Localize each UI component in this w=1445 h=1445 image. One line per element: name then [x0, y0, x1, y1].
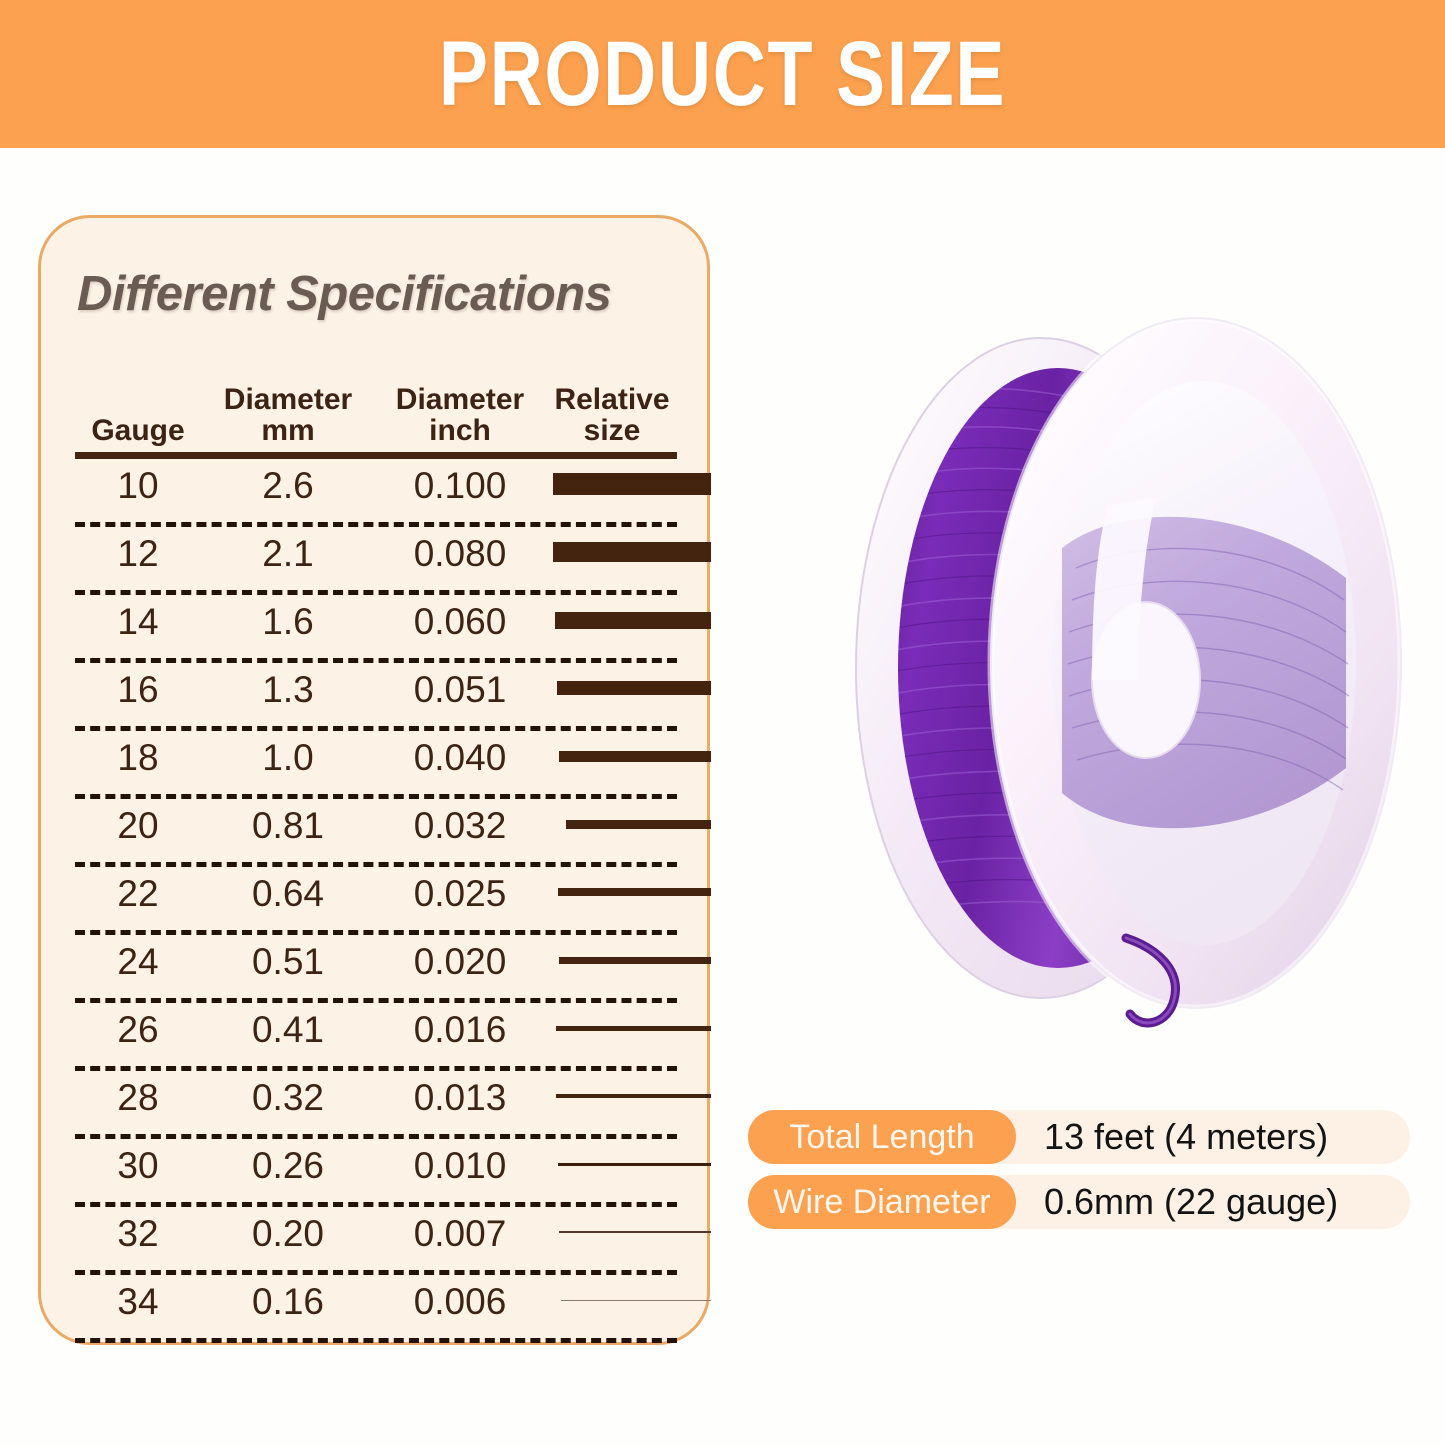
relative-size-bar: [559, 957, 711, 964]
spec-value: 0.6mm (22 gauge): [1044, 1175, 1338, 1229]
row-divider: [75, 1338, 677, 1343]
table-row: 320.200.007: [75, 1207, 677, 1270]
specifications-card: Different Specifications Gauge Diameter …: [38, 215, 710, 1345]
relative-size-bar: [556, 1094, 711, 1098]
product-size-infographic: PRODUCT SIZE Different Specifications Ga…: [0, 0, 1445, 1445]
cell-relative-size: [547, 459, 711, 509]
cell-diameter-inch: 0.006: [377, 1281, 543, 1323]
table-row: 280.320.013: [75, 1071, 677, 1134]
table-row: 240.510.020: [75, 935, 677, 998]
table-row: 220.640.025: [75, 867, 677, 930]
cell-gauge: 24: [75, 941, 201, 983]
table-row: 181.00.040: [75, 731, 677, 794]
card-title: Different Specifications: [77, 266, 611, 322]
spec-label: Total Length: [789, 1118, 974, 1157]
cell-diameter-inch: 0.040: [377, 737, 543, 779]
cell-relative-size: [547, 663, 711, 713]
cell-relative-size: [547, 935, 711, 985]
cell-diameter-inch: 0.032: [377, 805, 543, 847]
relative-size-bar: [553, 473, 711, 495]
table-header-row: Gauge Diameter mm Diameter inch Relative…: [75, 370, 677, 446]
cell-diameter-inch: 0.016: [377, 1009, 543, 1051]
cell-relative-size: [547, 799, 711, 849]
column-header-diameter-mm: Diameter mm: [207, 384, 369, 446]
cell-gauge: 18: [75, 737, 201, 779]
cell-diameter-mm: 0.64: [207, 873, 369, 915]
page-title: PRODUCT SIZE: [439, 22, 1006, 127]
spool-illustration: [826, 248, 1422, 1048]
cell-diameter-mm: 2.1: [207, 533, 369, 575]
table-row: 300.260.010: [75, 1139, 677, 1202]
cell-diameter-mm: 0.41: [207, 1009, 369, 1051]
cell-relative-size: [547, 867, 711, 917]
spec-label-pill: Total Length: [748, 1110, 1016, 1164]
cell-gauge: 22: [75, 873, 201, 915]
relative-size-bar: [561, 1300, 711, 1301]
table-row: 340.160.006: [75, 1275, 677, 1338]
cell-relative-size: [547, 1003, 711, 1053]
spec-row-wire-diameter: Wire Diameter 0.6mm (22 gauge): [748, 1175, 1418, 1229]
spec-value: 13 feet (4 meters): [1044, 1110, 1328, 1164]
column-header-gauge: Gauge: [75, 415, 201, 446]
cell-diameter-inch: 0.080: [377, 533, 543, 575]
table-row: 141.60.060: [75, 595, 677, 658]
cell-diameter-mm: 1.0: [207, 737, 369, 779]
cell-diameter-inch: 0.013: [377, 1077, 543, 1119]
cell-gauge: 14: [75, 601, 201, 643]
cell-diameter-mm: 0.26: [207, 1145, 369, 1187]
relative-size-bar: [558, 1163, 711, 1166]
cell-diameter-mm: 0.16: [207, 1281, 369, 1323]
cell-diameter-inch: 0.060: [377, 601, 543, 643]
header-underline: [75, 452, 677, 459]
cell-gauge: 16: [75, 669, 201, 711]
product-image-wire-spool: [826, 248, 1422, 1048]
column-header-relative-size: Relative size: [547, 384, 677, 446]
cell-diameter-mm: 0.51: [207, 941, 369, 983]
cell-diameter-mm: 0.20: [207, 1213, 369, 1255]
spec-label-pill: Wire Diameter: [748, 1175, 1016, 1229]
cell-gauge: 30: [75, 1145, 201, 1187]
product-spec-list: Total Length 13 feet (4 meters) Wire Dia…: [748, 1110, 1418, 1240]
relative-size-bar: [566, 820, 711, 829]
cell-gauge: 32: [75, 1213, 201, 1255]
cell-diameter-mm: 1.6: [207, 601, 369, 643]
table-row: 161.30.051: [75, 663, 677, 726]
cell-gauge: 12: [75, 533, 201, 575]
relative-size-bar: [557, 681, 711, 695]
cell-diameter-mm: 0.81: [207, 805, 369, 847]
relative-size-bar: [555, 612, 711, 629]
cell-relative-size: [547, 1071, 711, 1121]
spec-row-total-length: Total Length 13 feet (4 meters): [748, 1110, 1418, 1164]
cell-diameter-inch: 0.007: [377, 1213, 543, 1255]
cell-diameter-inch: 0.051: [377, 669, 543, 711]
cell-diameter-mm: 0.32: [207, 1077, 369, 1119]
cell-diameter-mm: 1.3: [207, 669, 369, 711]
spec-label: Wire Diameter: [773, 1183, 990, 1222]
cell-diameter-mm: 2.6: [207, 465, 369, 507]
header-banner: PRODUCT SIZE: [0, 0, 1445, 148]
table-row: 260.410.016: [75, 1003, 677, 1066]
cell-relative-size: [547, 1207, 711, 1257]
cell-relative-size: [547, 527, 711, 577]
table-row: 122.10.080: [75, 527, 677, 590]
cell-diameter-inch: 0.020: [377, 941, 543, 983]
column-header-diameter-inch: Diameter inch: [377, 384, 543, 446]
relative-size-bar: [559, 751, 711, 762]
cell-gauge: 28: [75, 1077, 201, 1119]
cell-relative-size: [547, 1275, 711, 1325]
relative-size-bar: [558, 888, 711, 896]
cell-relative-size: [547, 595, 711, 645]
relative-size-bar: [553, 542, 711, 562]
cell-gauge: 10: [75, 465, 201, 507]
cell-relative-size: [547, 1139, 711, 1189]
relative-size-bar: [559, 1231, 711, 1233]
table-row: 102.60.100: [75, 459, 677, 522]
cell-gauge: 20: [75, 805, 201, 847]
gauge-table: Gauge Diameter mm Diameter inch Relative…: [75, 370, 677, 1343]
table-body: 102.60.100122.10.080141.60.060161.30.051…: [75, 459, 677, 1343]
cell-diameter-inch: 0.010: [377, 1145, 543, 1187]
table-row: 200.810.032: [75, 799, 677, 862]
cell-gauge: 26: [75, 1009, 201, 1051]
cell-diameter-inch: 0.025: [377, 873, 543, 915]
relative-size-bar: [556, 1026, 711, 1031]
cell-diameter-inch: 0.100: [377, 465, 543, 507]
cell-relative-size: [547, 731, 711, 781]
cell-gauge: 34: [75, 1281, 201, 1323]
